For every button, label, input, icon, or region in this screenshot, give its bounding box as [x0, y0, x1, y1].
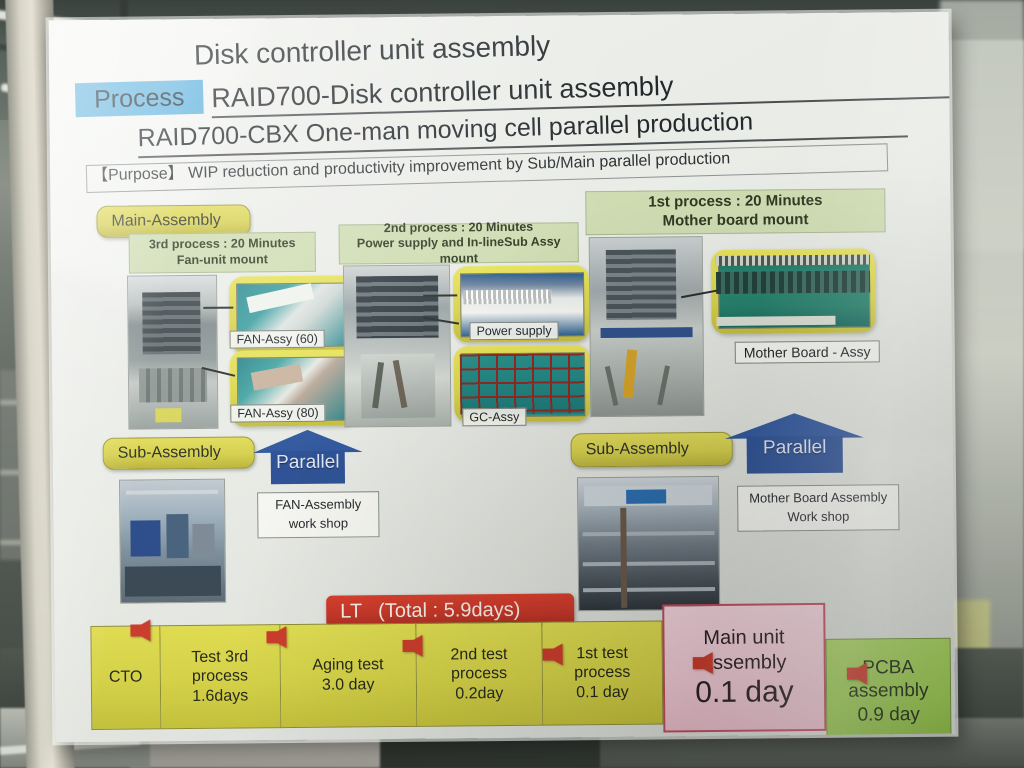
timeline-cell-line: process [192, 667, 248, 687]
timeline-cell-aging-test: Aging test 3.0 day [280, 623, 417, 728]
workshop-box-fan: FAN-Assembly work shop [257, 491, 379, 538]
flow-arrow [266, 626, 286, 648]
lead-time-timeline: CTO Test 3rd process 1.6days Aging test … [90, 618, 951, 730]
timeline-cell-line: 0.9 day [857, 703, 920, 727]
process-poster: Disk controller unit assembly Process RA… [49, 12, 956, 743]
timeline-cell-1st-test-process: 1st test process 0.1 day [542, 620, 663, 725]
timeline-cell-2nd-test-process: 2nd test process 0.2day [416, 622, 543, 727]
main-assembly-label: Main-Assembly [111, 212, 221, 231]
flow-arrow [543, 643, 563, 665]
timeline-cell-pcba-assembly: PCBA assembly 0.9 day [825, 638, 951, 743]
timeline-cell-line: 1.6days [192, 686, 248, 706]
sub-assembly-pill-left: Sub-Assembly [103, 436, 255, 469]
caption-power-supply: Power supply [469, 321, 558, 340]
timeline-cell-line: Test 3rd [191, 647, 248, 667]
caption-gc-assy: GC-Assy [462, 408, 526, 427]
sub-assembly-label-left: Sub-Assembly [118, 444, 221, 463]
process-header-line2: Mother board mount [663, 211, 809, 231]
process-header-line1: 2nd process : 20 Minutes [384, 219, 534, 236]
parallel-label-left: Parallel [253, 451, 363, 474]
caption-fan-assy-60: FAN-Assy (60) [230, 330, 325, 349]
timeline-cell-line: 0.1 day [576, 683, 629, 703]
connector-line [423, 294, 457, 296]
photo-scene: oʇɔ Disk controller unit assembly Proces… [0, 0, 1024, 768]
workshop-line1: FAN-Assembly [275, 496, 361, 516]
flow-arrow [693, 652, 713, 674]
photo-fan-assembly-workshop [119, 479, 226, 604]
timeline-cell-big-value: 0.1 day [695, 676, 794, 709]
flow-arrow [402, 635, 422, 657]
parallel-arrow-right: Parallel [724, 413, 865, 474]
process-header-2nd: 2nd process : 20 Minutes Power supply an… [339, 222, 579, 264]
photo-power-supply-station [343, 264, 452, 427]
sub-assembly-label-right: Sub-Assembly [586, 440, 689, 459]
timeline-cell-line: 0.2day [455, 684, 503, 704]
photo-mother-board-workshop [577, 476, 720, 611]
process-chip-label: Process [75, 80, 204, 117]
parallel-arrow-left: Parallel [253, 429, 364, 484]
photo-fan-unit-station [127, 275, 218, 430]
connector-line [203, 307, 233, 309]
caption-mother-board-assy: Mother Board - Assy [735, 340, 880, 363]
process-header-3rd: 3rd process : 20 Minutes Fan-unit mount [129, 232, 316, 274]
callout-mother-board-assy [711, 248, 876, 334]
workshop-line1: Mother Board Assembly [749, 488, 887, 508]
callout-image-mother-board [718, 255, 871, 328]
parallel-label-right: Parallel [725, 437, 865, 460]
timeline-cell-line: PCBA [862, 656, 914, 680]
poster-title-line1: Disk controller unit assembly [194, 19, 955, 72]
timeline-cell-main-unit-assembly: Main unit assembly 0.1 day [662, 603, 826, 733]
timeline-cell-line: 2nd test [450, 645, 507, 665]
process-header-line2: Power supply and In-lineSub Assy mount [340, 234, 578, 268]
photo-mother-board-station [589, 236, 705, 417]
flow-arrow [847, 663, 867, 685]
lt-label: LT [340, 600, 362, 623]
process-header-line2: Fan-unit mount [177, 252, 268, 268]
timeline-cell-line: CTO [109, 668, 143, 688]
timeline-cell-line: assembly [702, 650, 787, 675]
flow-arrow [130, 619, 150, 641]
workshop-line2: Work shop [787, 508, 849, 527]
timeline-cell-line: process [574, 663, 630, 683]
sub-assembly-pill-right: Sub-Assembly [571, 432, 733, 468]
process-chip: Process [75, 80, 204, 117]
process-header-line1: 3rd process : 20 Minutes [149, 236, 296, 253]
timeline-cell-line: 3.0 day [322, 675, 375, 695]
workshop-box-mother-board: Mother Board Assembly Work shop [737, 484, 899, 532]
timeline-cell-line: Aging test [312, 656, 383, 676]
timeline-cell-line: process [451, 664, 507, 684]
process-header-line1: 1st process : 20 Minutes [648, 192, 822, 212]
timeline-cell-line: Main unit [703, 626, 784, 651]
lt-total: (Total : 5.9days) [378, 598, 521, 622]
caption-fan-assy-80: FAN-Assy (80) [230, 404, 325, 423]
workshop-line2: work shop [289, 514, 348, 533]
timeline-cell-test-3rd-process: Test 3rd process 1.6days [160, 624, 281, 729]
process-header-1st: 1st process : 20 Minutes Mother board mo… [585, 188, 885, 235]
timeline-cell-line: 1st test [576, 644, 628, 664]
